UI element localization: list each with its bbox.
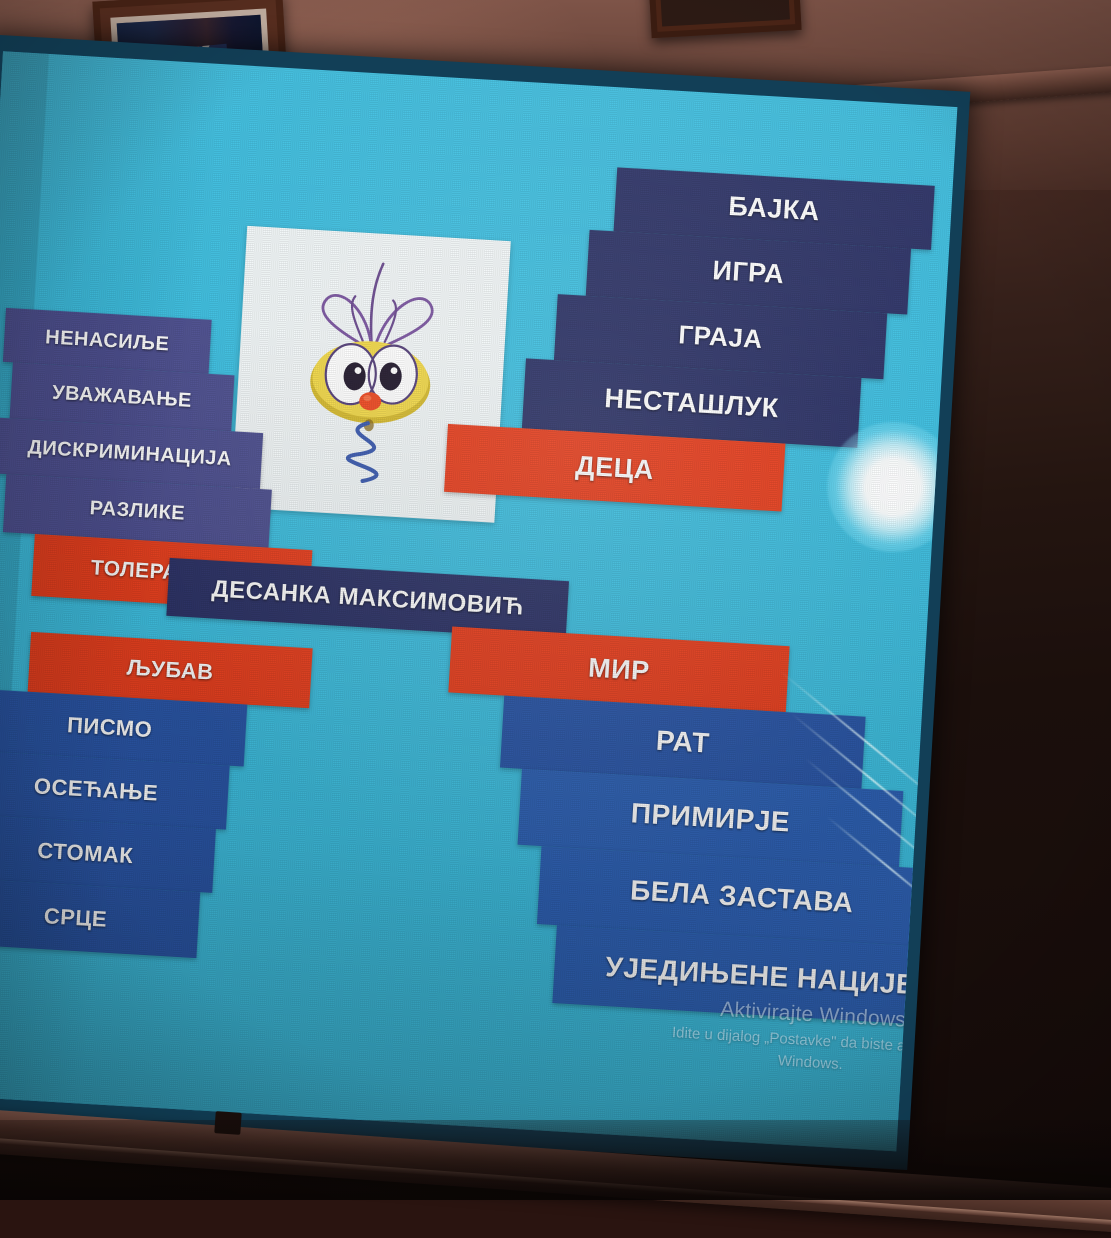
classroom-scene: London <box>0 0 1111 1200</box>
slide-canvas: НЕНАСИЉЕ УВАЖАВАЊЕ ДИСКРИМИНАЦИЈА РАЗЛИК… <box>0 51 957 1151</box>
bar-label: УВАЖАВАЊЕ <box>52 381 193 412</box>
bar-label: МИР <box>587 652 650 687</box>
bar-label: ДЕЦА <box>575 450 655 486</box>
bar-mir[interactable]: МИР <box>448 626 789 712</box>
bar-label: РАЗЛИКЕ <box>89 497 186 526</box>
bar-label: РАТ <box>655 725 710 760</box>
bar-label: БЕЛА ЗАСТАВА <box>629 874 854 919</box>
bar-label: ПРИМИРЈЕ <box>630 797 791 838</box>
bar-label: ИГРА <box>712 255 786 290</box>
bar-label: СТОМАК <box>37 838 134 870</box>
bar-label: БАЈКА <box>728 190 821 226</box>
bar-label: ДИСКРИМИНАЦИЈА <box>27 436 232 471</box>
bar-label: ГРАЈА <box>678 319 764 355</box>
bar-label: СРЦЕ <box>43 903 108 933</box>
bar-desanka-maksimovic[interactable]: ДЕСАНКА МАКСИМОВИЋ <box>166 558 569 639</box>
bar-label: НЕСТАШЛУК <box>604 383 780 424</box>
bar-label: ОСЕЋАЊЕ <box>33 773 159 806</box>
floor-shadow <box>0 1120 1111 1200</box>
bar-srce[interactable]: СРЦЕ <box>0 878 200 958</box>
bar-label: ЉУБАВ <box>126 655 214 686</box>
bar-label: НЕНАСИЉЕ <box>45 326 170 356</box>
bar-label: ПИСМО <box>66 712 153 743</box>
bar-label: УЈЕДИЊЕНЕ НАЦИЈЕ <box>605 951 916 1001</box>
projection-screen: НЕНАСИЉЕ УВАЖАВАЊЕ ДИСКРИМИНАЦИЈА РАЗЛИК… <box>0 34 970 1170</box>
bar-label: ДЕСАНКА МАКСИМОВИЋ <box>211 575 525 621</box>
